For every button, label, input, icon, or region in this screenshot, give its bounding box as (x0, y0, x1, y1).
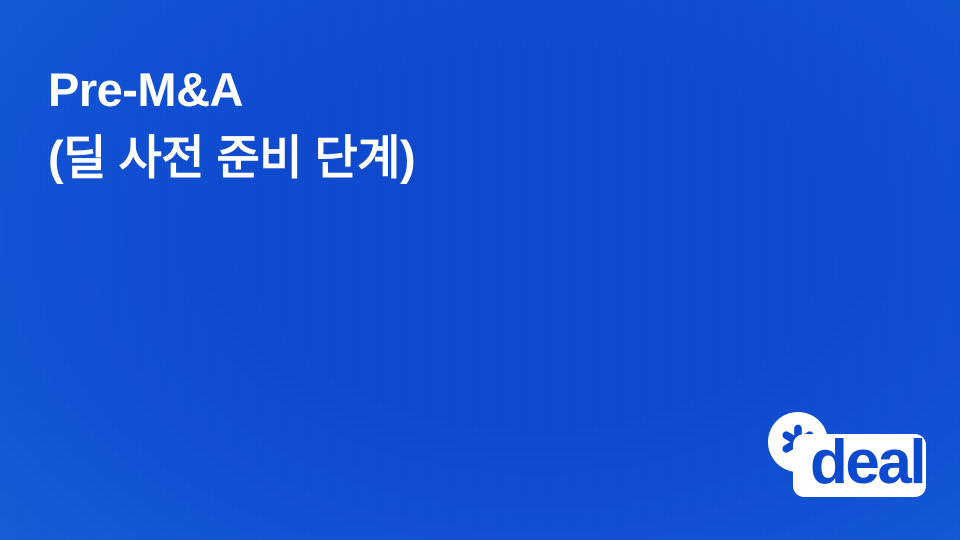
slide-title-line-2: (딜 사전 준비 단계) (48, 124, 668, 192)
presentation-slide: Pre-M&A (딜 사전 준비 단계) deal (0, 0, 960, 540)
slide-title-line-1: Pre-M&A (48, 56, 668, 124)
deal-logo[interactable]: deal (766, 410, 928, 502)
slide-title-block: Pre-M&A (딜 사전 준비 단계) (48, 56, 668, 192)
logo-wordmark: deal (810, 425, 926, 501)
